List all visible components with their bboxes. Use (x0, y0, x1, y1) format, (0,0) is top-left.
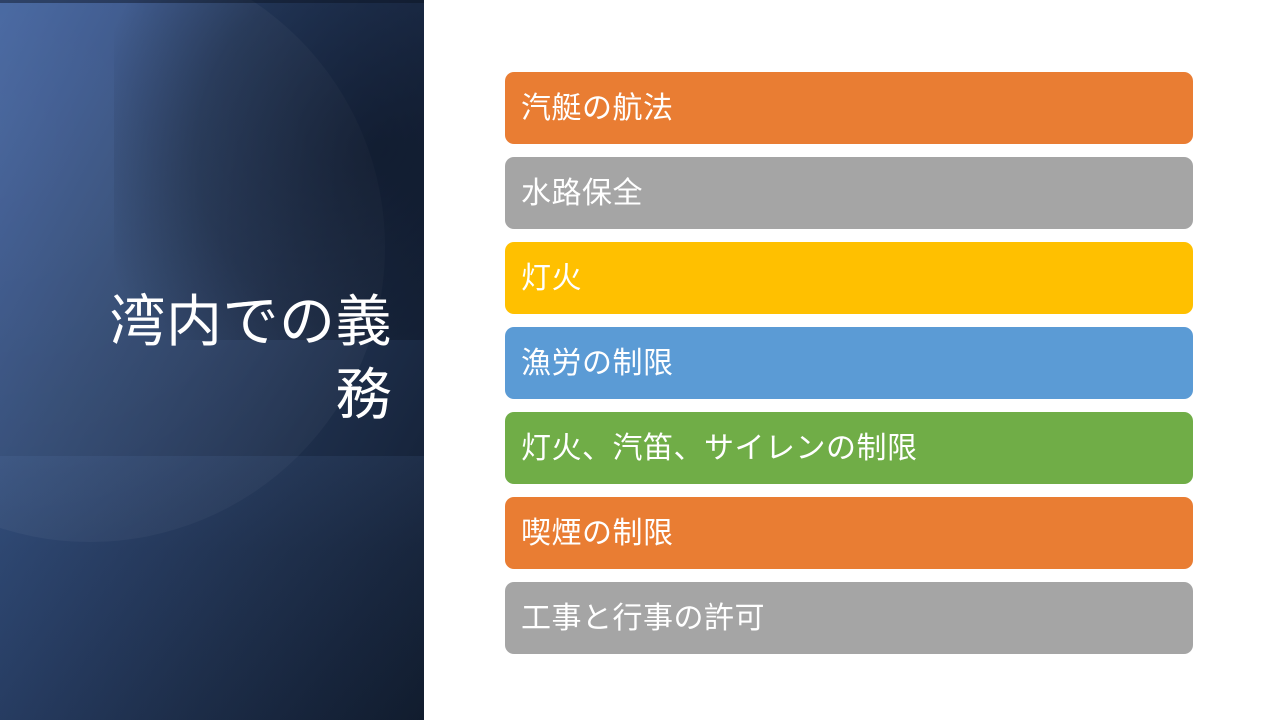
list-item[interactable]: 灯火 (505, 242, 1193, 314)
list-item-label: 喫煙の制限 (521, 517, 674, 550)
stacked-list: 汽艇の航法水路保全灯火漁労の制限灯火、汽笛、サイレンの制限喫煙の制限工事と行事の… (505, 72, 1193, 654)
title-panel: 湾内での義務 (0, 0, 424, 720)
decorative-band (0, 456, 424, 720)
list-item-label: 汽艇の航法 (521, 92, 674, 125)
list-item-label: 灯火、汽笛、サイレンの制限 (521, 432, 918, 465)
list-item[interactable]: 喫煙の制限 (505, 497, 1193, 569)
list-item-label: 灯火 (521, 262, 582, 295)
decorative-top-rule (0, 0, 424, 3)
list-item[interactable]: 漁労の制限 (505, 327, 1193, 399)
list-item[interactable]: 水路保全 (505, 157, 1193, 229)
list-item-label: 漁労の制限 (521, 347, 674, 380)
list-item[interactable]: 灯火、汽笛、サイレンの制限 (505, 412, 1193, 484)
slide-title: 湾内での義務 (56, 286, 392, 432)
list-item-label: 工事と行事の許可 (521, 602, 765, 635)
list-item[interactable]: 工事と行事の許可 (505, 582, 1193, 654)
list-item-label: 水路保全 (521, 177, 643, 210)
slide: 湾内での義務 汽艇の航法水路保全灯火漁労の制限灯火、汽笛、サイレンの制限喫煙の制… (0, 0, 1280, 720)
list-item[interactable]: 汽艇の航法 (505, 72, 1193, 144)
